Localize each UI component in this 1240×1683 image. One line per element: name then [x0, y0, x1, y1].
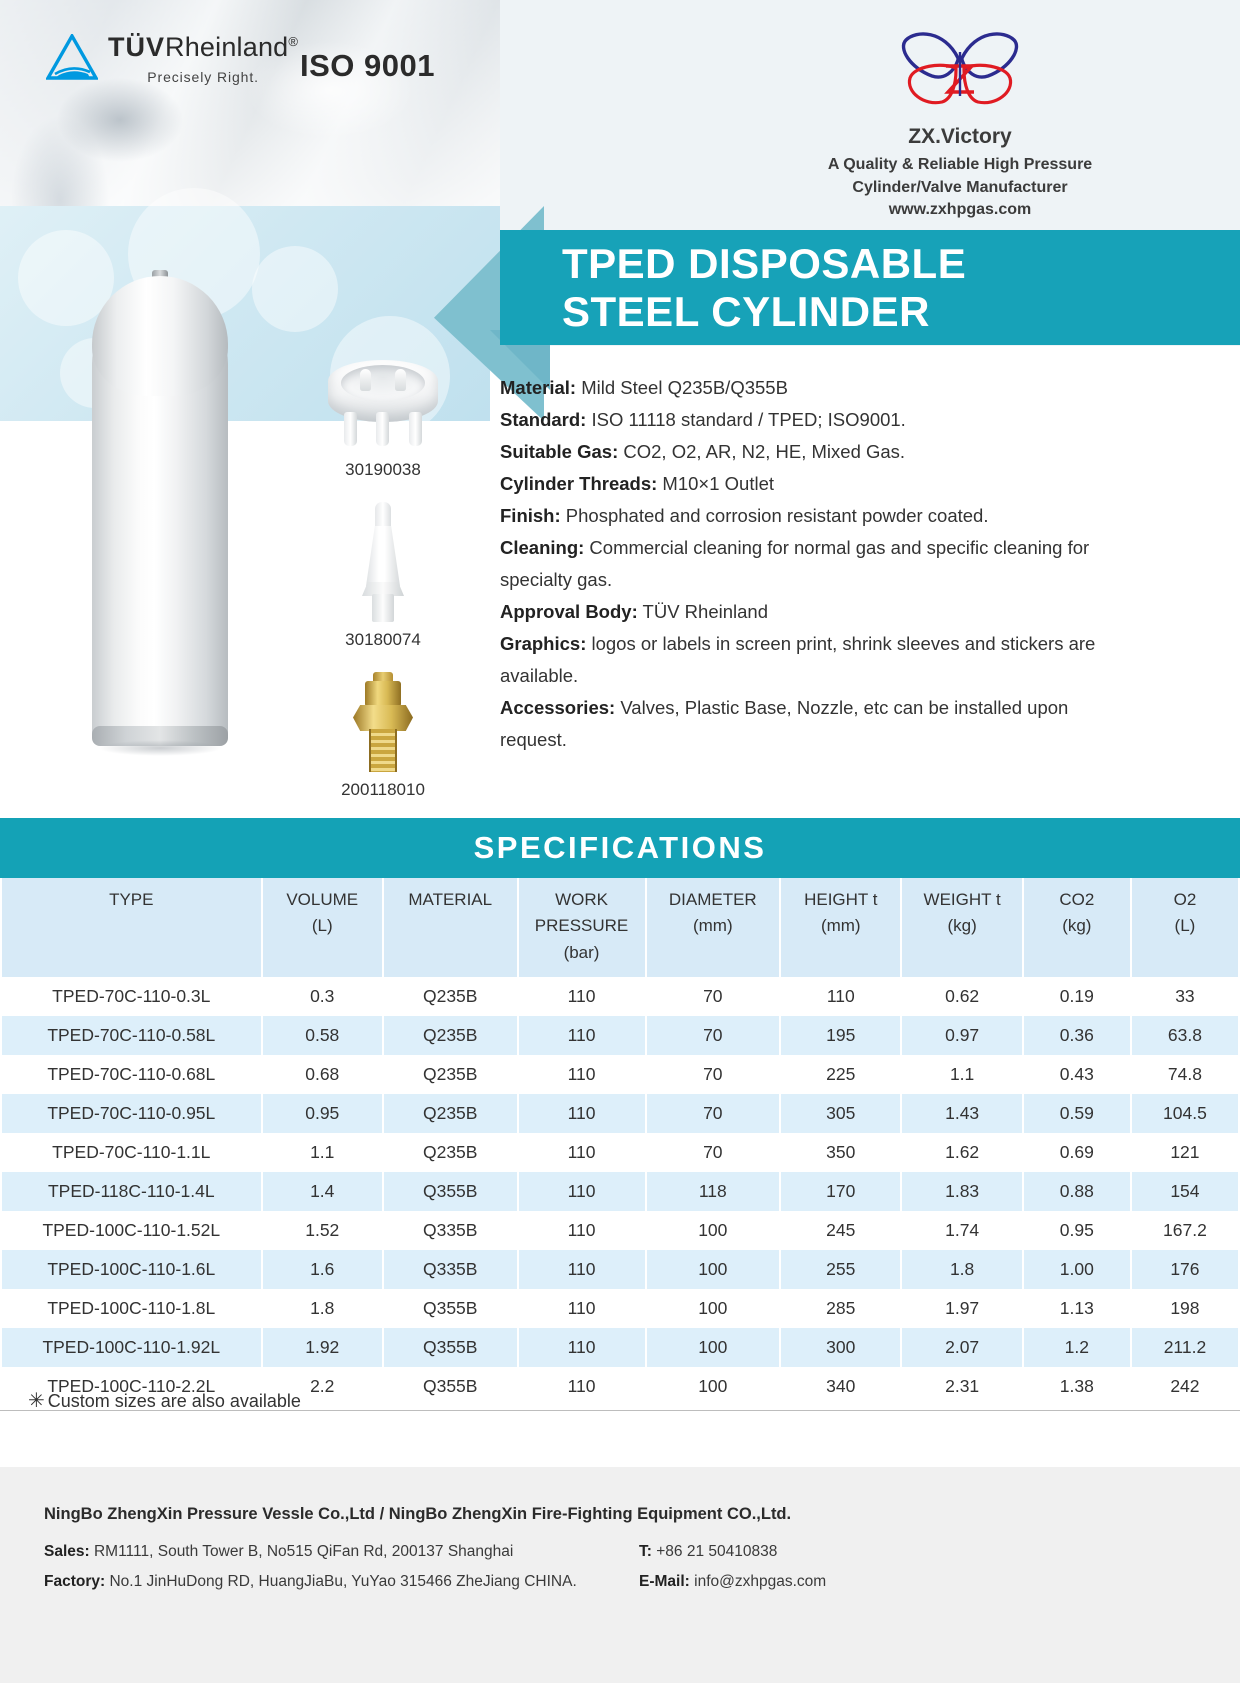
table-cell: 0.95 — [1024, 1211, 1130, 1250]
spec-line: Graphics: logos or labels in screen prin… — [500, 628, 1120, 692]
table-header-row: TYPE VOLUME(L)MATERIAL WORK PRESSURE(bar… — [2, 878, 1238, 977]
spec-label: Cylinder Threads: — [500, 473, 657, 494]
table-row: TPED-118C-110-1.4L1.4Q355B1101181701.830… — [2, 1172, 1238, 1211]
table-cell: 2.31 — [902, 1367, 1021, 1406]
table-cell: 1.4 — [263, 1172, 382, 1211]
table-cell: 0.95 — [263, 1094, 382, 1133]
table-row: TPED-70C-110-0.3L0.3Q235B110701100.620.1… — [2, 977, 1238, 1016]
cell-type: TPED-100C-110-1.6L — [2, 1250, 261, 1289]
table-cell: 110 — [519, 1211, 645, 1250]
table-cell: 195 — [781, 1016, 900, 1055]
tuv-logo-text: TÜVRheinland® Precisely Right. — [108, 34, 298, 84]
table-cell: 1.52 — [263, 1211, 382, 1250]
table-cell: 1.92 — [263, 1328, 382, 1367]
column-header: HEIGHT t(mm) — [781, 878, 900, 977]
table-cell: 1.97 — [902, 1289, 1021, 1328]
part-code: 30180074 — [268, 630, 498, 650]
table-row: TPED-100C-110-1.8L1.8Q355B1101002851.971… — [2, 1289, 1238, 1328]
cell-type: TPED-100C-110-1.92L — [2, 1328, 261, 1367]
table-cell: 242 — [1132, 1367, 1238, 1406]
spec-value: TÜV Rheinland — [638, 601, 768, 622]
table-cell: Q235B — [384, 1094, 517, 1133]
tuv-brand-name: TÜVRheinland® — [108, 34, 298, 61]
table-cell: 1.00 — [1024, 1250, 1130, 1289]
column-header-unit: (bar) — [521, 940, 643, 966]
table-cell: 0.88 — [1024, 1172, 1130, 1211]
product-title-banner: TPED DISPOSABLE STEEL CYLINDER — [500, 230, 1240, 345]
column-header-name: TYPE — [109, 890, 153, 909]
table-cell: 74.8 — [1132, 1055, 1238, 1094]
spec-value: M10×1 Outlet — [657, 473, 774, 494]
tuv-triangle-icon — [46, 34, 98, 80]
table-cell: 0.62 — [902, 977, 1021, 1016]
cell-type: TPED-70C-110-0.58L — [2, 1016, 261, 1055]
table-cell: Q235B — [384, 1016, 517, 1055]
table-cell: 110 — [519, 1250, 645, 1289]
base-leg — [409, 412, 422, 446]
nozzle-stem — [372, 594, 394, 622]
table-cell: 225 — [781, 1055, 900, 1094]
spec-label: Material: — [500, 377, 576, 398]
table-cell: 300 — [781, 1328, 900, 1367]
spec-label: Graphics: — [500, 633, 586, 654]
column-header: O2(L) — [1132, 878, 1238, 977]
table-cell: Q235B — [384, 977, 517, 1016]
table-cell: 70 — [647, 1016, 780, 1055]
cylinder-dome — [92, 276, 228, 396]
part-item: 200118010 — [268, 672, 498, 800]
column-header-unit: (kg) — [904, 913, 1019, 939]
table-cell: 0.43 — [1024, 1055, 1130, 1094]
base-inner-cavity — [341, 365, 425, 401]
footer-factory-label: Factory: — [44, 1573, 105, 1590]
iso-certification-label: ISO 9001 — [300, 48, 435, 84]
table-cell: 0.59 — [1024, 1094, 1130, 1133]
column-header-name: WORK PRESSURE — [535, 890, 629, 935]
base-leg — [376, 412, 389, 446]
table-cell: 110 — [519, 1055, 645, 1094]
part-item: 30190038 — [268, 360, 498, 480]
cell-type: TPED-100C-110-1.8L — [2, 1289, 261, 1328]
hero-section: TÜVRheinland® Precisely Right. ISO 9001 … — [0, 0, 1240, 820]
table-cell: 110 — [519, 1172, 645, 1211]
table-row: TPED-70C-110-0.68L0.68Q235B110702251.10.… — [2, 1055, 1238, 1094]
table-cell: 121 — [1132, 1133, 1238, 1172]
column-header: CO2(kg) — [1024, 878, 1130, 977]
column-header-unit: (mm) — [649, 913, 778, 939]
spec-label: Approval Body: — [500, 601, 638, 622]
table-cell: 285 — [781, 1289, 900, 1328]
footer-sales-value: RM1111, South Tower B, No515 QiFan Rd, 2… — [94, 1543, 513, 1560]
table-cell: 1.43 — [902, 1094, 1021, 1133]
footer-contact-column: T: +86 21 50410838 E-Mail: info@zxhpgas.… — [639, 1537, 826, 1597]
table-cell: Q355B — [384, 1289, 517, 1328]
part-code: 200118010 — [268, 780, 498, 800]
table-row: TPED-70C-110-0.95L0.95Q235B110703051.430… — [2, 1094, 1238, 1133]
custom-sizes-note: ✳Custom sizes are also available — [28, 1388, 301, 1413]
title-line-1: TPED DISPOSABLE — [562, 240, 966, 287]
cell-type: TPED-70C-110-0.68L — [2, 1055, 261, 1094]
table-cell: 100 — [647, 1211, 780, 1250]
table-cell: 100 — [647, 1328, 780, 1367]
title-line-2: STEEL CYLINDER — [562, 288, 930, 335]
table-row: TPED-70C-110-0.58L0.58Q235B110701950.970… — [2, 1016, 1238, 1055]
table-cell: 1.1 — [263, 1133, 382, 1172]
table-head: TYPE VOLUME(L)MATERIAL WORK PRESSURE(bar… — [2, 878, 1238, 977]
column-header-unit: (L) — [265, 913, 380, 939]
column-header-name: WEIGHT t — [924, 890, 1001, 909]
table-cell: Q355B — [384, 1172, 517, 1211]
cell-type: TPED-70C-110-0.95L — [2, 1094, 261, 1133]
table-cell: 110 — [519, 1328, 645, 1367]
specifications-table: TYPE VOLUME(L)MATERIAL WORK PRESSURE(bar… — [0, 878, 1240, 1406]
table-cell: 0.36 — [1024, 1016, 1130, 1055]
column-header: VOLUME(L) — [263, 878, 382, 977]
column-header: DIAMETER(mm) — [647, 878, 780, 977]
spec-value: logos or labels in screen print, shrink … — [500, 633, 1095, 686]
table-cell: 110 — [519, 1133, 645, 1172]
column-header-name: MATERIAL — [408, 890, 492, 909]
footer-phone-label: T: — [639, 1543, 652, 1560]
footer-factory-row: Factory: No.1 JinHuDong RD, HuangJiaBu, … — [44, 1567, 1196, 1597]
table-cell: 340 — [781, 1367, 900, 1406]
table-cell: 1.38 — [1024, 1367, 1130, 1406]
table-cell: 110 — [519, 1367, 645, 1406]
steel-cylinder-image — [92, 276, 228, 746]
column-header: MATERIAL — [384, 878, 517, 977]
table-cell: 0.58 — [263, 1016, 382, 1055]
table-cell: 167.2 — [1132, 1211, 1238, 1250]
cell-type: TPED-70C-110-0.3L — [2, 977, 261, 1016]
nozzle-cone — [366, 526, 400, 586]
custom-sizes-text: Custom sizes are also available — [48, 1391, 301, 1411]
column-header-unit: (kg) — [1026, 913, 1128, 939]
spec-line: Finish: Phosphated and corrosion resista… — [500, 500, 1120, 532]
spec-value: ISO 11118 standard / TPED; ISO9001. — [586, 409, 905, 430]
table-cell: 104.5 — [1132, 1094, 1238, 1133]
specifications-header: SPECIFICATIONS — [0, 818, 1240, 878]
table-cell: 350 — [781, 1133, 900, 1172]
table-row: TPED-100C-110-1.6L1.6Q335B1101002551.81.… — [2, 1250, 1238, 1289]
base-rib — [395, 369, 406, 391]
spec-label: Standard: — [500, 409, 586, 430]
cylinder-shadow — [98, 740, 222, 756]
table-cell: 1.83 — [902, 1172, 1021, 1211]
brass-valve-icon — [352, 672, 414, 772]
plastic-base-icon — [328, 360, 438, 452]
footer-sales-label: Sales: — [44, 1543, 90, 1560]
column-header-unit: (L) — [1134, 913, 1236, 939]
valve-hex-nut — [353, 705, 413, 731]
base-leg — [344, 412, 357, 446]
column-header-name: O2 — [1174, 890, 1197, 909]
table-cell: 245 — [781, 1211, 900, 1250]
table-cell: 255 — [781, 1250, 900, 1289]
spec-label: Accessories: — [500, 697, 615, 718]
table-cell: 33 — [1132, 977, 1238, 1016]
footer-contact-rows: Sales: RM1111, South Tower B, No515 QiFa… — [44, 1537, 1196, 1597]
table-cell: 0.68 — [263, 1055, 382, 1094]
spec-label: Cleaning: — [500, 537, 584, 558]
table-cell: 70 — [647, 1055, 780, 1094]
table-cell: 1.8 — [902, 1250, 1021, 1289]
table-cell: 1.1 — [902, 1055, 1021, 1094]
spec-line: Approval Body: TÜV Rheinland — [500, 596, 1120, 628]
column-header-name: CO2 — [1059, 890, 1094, 909]
footer-factory-value: No.1 JinHuDong RD, HuangJiaBu, YuYao 315… — [109, 1573, 576, 1590]
spec-label: Suitable Gas: — [500, 441, 618, 462]
table-cell: 110 — [519, 1094, 645, 1133]
valve-cap — [365, 681, 401, 707]
table-cell: 0.19 — [1024, 977, 1130, 1016]
page-title: TPED DISPOSABLE STEEL CYLINDER — [562, 240, 966, 334]
bubble-decoration — [252, 246, 338, 332]
table-cell: 1.8 — [263, 1289, 382, 1328]
table-cell: 198 — [1132, 1289, 1238, 1328]
column-header-unit: (mm) — [783, 913, 898, 939]
table-cell: 110 — [519, 1016, 645, 1055]
footer-phone-row: T: +86 21 50410838 — [639, 1537, 826, 1567]
company-name: ZX.Victory — [680, 125, 1240, 149]
table-row: TPED-100C-110-1.52L1.52Q335B1101002451.7… — [2, 1211, 1238, 1250]
company-website[interactable]: www.zxhpgas.com — [680, 199, 1240, 222]
table-row: TPED-100C-110-1.92L1.92Q355B1101003002.0… — [2, 1328, 1238, 1367]
spec-line: Cylinder Threads: M10×1 Outlet — [500, 468, 1120, 500]
table-cell: Q355B — [384, 1328, 517, 1367]
table-cell: 1.13 — [1024, 1289, 1130, 1328]
column-header-name: VOLUME — [286, 890, 358, 909]
part-item: 30180074 — [268, 502, 498, 650]
column-header-name: DIAMETER — [669, 890, 757, 909]
spec-value: CO2, O2, AR, N2, HE, Mixed Gas. — [618, 441, 905, 462]
table-cell: 170 — [781, 1172, 900, 1211]
footer-company-name: NingBo ZhengXin Pressure Vessle Co.,Ltd … — [44, 1505, 1196, 1524]
company-logo-block: ZX.Victory A Quality & Reliable High Pre… — [680, 18, 1240, 222]
table-cell: 63.8 — [1132, 1016, 1238, 1055]
asterisk-icon: ✳ — [28, 1390, 45, 1412]
table-cell: 1.6 — [263, 1250, 382, 1289]
footer-sales-row: Sales: RM1111, South Tower B, No515 QiFa… — [44, 1537, 1196, 1567]
table-cell: 211.2 — [1132, 1328, 1238, 1367]
page-footer: NingBo ZhengXin Pressure Vessle Co.,Ltd … — [0, 1467, 1240, 1683]
tagline-line-2: Cylinder/Valve Manufacturer — [680, 177, 1240, 200]
column-header-unit — [4, 913, 259, 939]
cell-type: TPED-70C-110-1.1L — [2, 1133, 261, 1172]
table-cell: 100 — [647, 1289, 780, 1328]
spec-value: Commercial cleaning for normal gas and s… — [500, 537, 1089, 590]
spec-line: Standard: ISO 11118 standard / TPED; ISO… — [500, 404, 1120, 436]
butterfly-logo-icon — [880, 18, 1040, 118]
table-cell: 70 — [647, 977, 780, 1016]
tuv-rheinland-logo: TÜVRheinland® Precisely Right. — [46, 34, 298, 84]
spec-label: Finish: — [500, 505, 561, 526]
table-cell: 118 — [647, 1172, 780, 1211]
table-cell: 110 — [781, 977, 900, 1016]
table-cell: 100 — [647, 1250, 780, 1289]
company-tagline: A Quality & Reliable High Pressure Cylin… — [680, 154, 1240, 222]
footer-email-label: E-Mail: — [639, 1573, 690, 1590]
table-cell: 1.2 — [1024, 1328, 1130, 1367]
footer-email-row: E-Mail: info@zxhpgas.com — [639, 1567, 826, 1597]
column-header-unit — [386, 913, 515, 939]
tagline-line-1: A Quality & Reliable High Pressure — [680, 154, 1240, 177]
column-header: WORK PRESSURE(bar) — [519, 878, 645, 977]
table-cell: 0.97 — [902, 1016, 1021, 1055]
table-cell: 154 — [1132, 1172, 1238, 1211]
plastic-nozzle-icon — [360, 502, 406, 622]
table-cell: 110 — [519, 1289, 645, 1328]
cell-type: TPED-100C-110-1.52L — [2, 1211, 261, 1250]
spec-line: Cleaning: Commercial cleaning for normal… — [500, 532, 1120, 596]
table-cell: Q355B — [384, 1367, 517, 1406]
table-cell: 0.3 — [263, 977, 382, 1016]
column-header-name: HEIGHT t — [804, 890, 877, 909]
table-cell: 1.62 — [902, 1133, 1021, 1172]
spec-value: Mild Steel Q235B/Q355B — [576, 377, 788, 398]
table-cell: 70 — [647, 1094, 780, 1133]
footer-email-value[interactable]: info@zxhpgas.com — [694, 1573, 826, 1590]
accessory-parts-list: 30190038 30180074 200118010 — [268, 360, 498, 820]
table-cell: Q235B — [384, 1055, 517, 1094]
table-cell: 305 — [781, 1094, 900, 1133]
spec-line: Suitable Gas: CO2, O2, AR, N2, HE, Mixed… — [500, 436, 1120, 468]
table-cell: 2.07 — [902, 1328, 1021, 1367]
footer-phone-value[interactable]: +86 21 50410838 — [656, 1543, 777, 1560]
base-rib — [360, 369, 371, 391]
spec-value: Phosphated and corrosion resistant powde… — [561, 505, 989, 526]
table-cell: 70 — [647, 1133, 780, 1172]
table-cell: 100 — [647, 1367, 780, 1406]
table-cell: Q235B — [384, 1133, 517, 1172]
column-header: WEIGHT t(kg) — [902, 878, 1021, 977]
cell-type: TPED-118C-110-1.4L — [2, 1172, 261, 1211]
tuv-tagline: Precisely Right. — [108, 70, 298, 84]
spec-line: Accessories: Valves, Plastic Base, Nozzl… — [500, 692, 1120, 756]
column-header: TYPE — [2, 878, 261, 977]
product-spec-list: Material: Mild Steel Q235B/Q355BStandard… — [500, 372, 1120, 756]
nozzle-tip — [375, 502, 391, 528]
table-cell: Q335B — [384, 1250, 517, 1289]
table-cell: 176 — [1132, 1250, 1238, 1289]
table-cell: Q335B — [384, 1211, 517, 1250]
table-body: TPED-70C-110-0.3L0.3Q235B110701100.620.1… — [2, 977, 1238, 1406]
table-cell: 110 — [519, 977, 645, 1016]
spec-line: Material: Mild Steel Q235B/Q355B — [500, 372, 1120, 404]
valve-thread — [369, 729, 397, 772]
table-cell: 1.74 — [902, 1211, 1021, 1250]
part-code: 30190038 — [268, 460, 498, 480]
table-row: TPED-70C-110-1.1L1.1Q235B110703501.620.6… — [2, 1133, 1238, 1172]
table-cell: 0.69 — [1024, 1133, 1130, 1172]
